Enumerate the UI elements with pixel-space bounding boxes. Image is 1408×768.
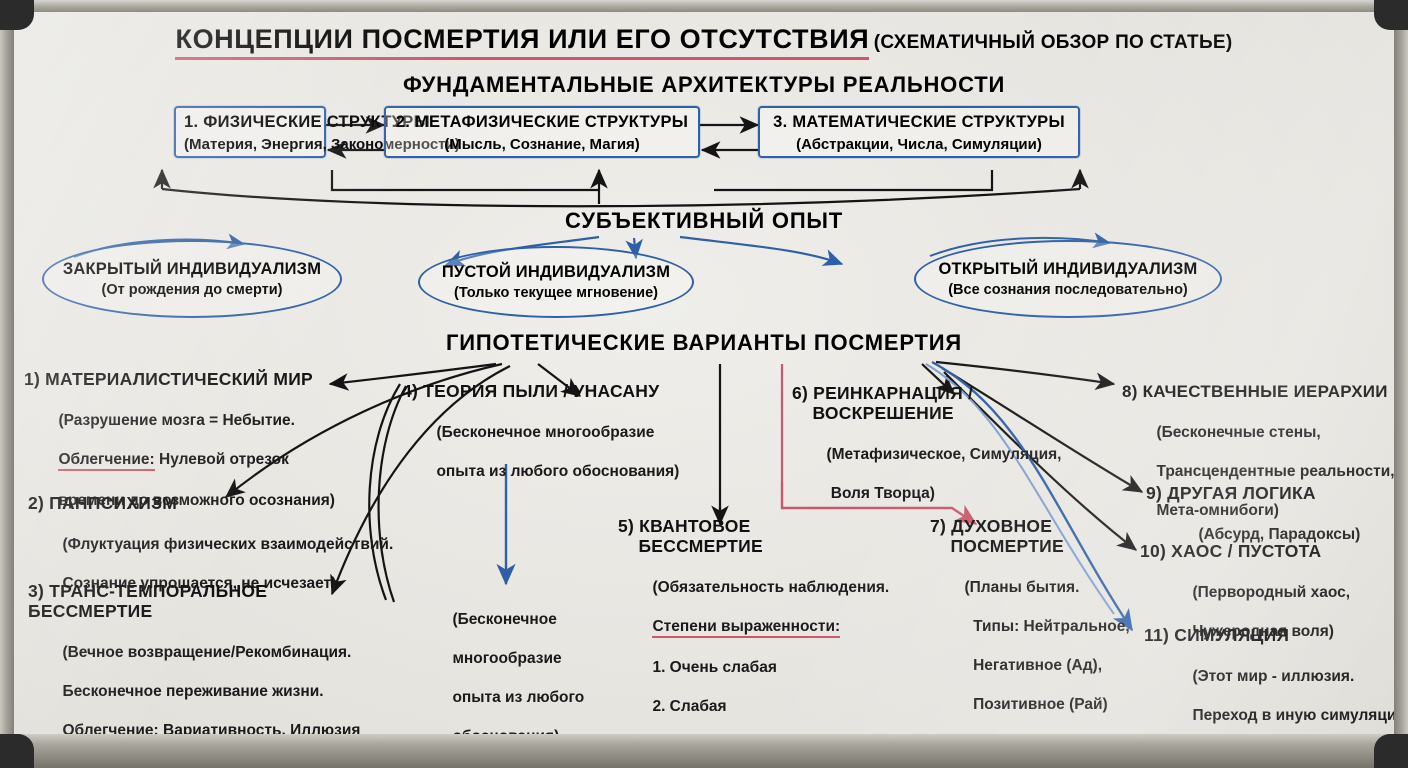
arch-box-physical-detail: (Материя, Энергия, Закономерности) — [184, 136, 316, 153]
variant-5-degrees-label: Степени выраженности: — [652, 619, 840, 638]
variant-6-body: (Метафизическое, Симуляция, Воля Творца) — [792, 425, 1092, 523]
variant-7-body: (Планы бытия. Типы: Нейтральное, Негатив… — [930, 558, 1160, 734]
variant-3-title: 3) ТРАНС-ТЕМПОРАЛЬНОЕ БЕССМЕРТИЕ — [28, 582, 388, 621]
variant-7-spiritual-afterlife[interactable]: 7) ДУХОВНОЕ ПОСМЕРТИЕ (Планы бытия. Типы… — [930, 517, 1160, 734]
arch-box-metaphysical-heading: 2. МЕТАФИЗИЧЕСКИЕ СТРУКТУРЫ — [394, 113, 690, 132]
whiteboard: КОНЦЕПЦИИ ПОСМЕРТИЯ ИЛИ ЕГО ОТСУТСТВИЯ (… — [0, 0, 1408, 768]
variant-11-simulation[interactable]: 11) СИМУЛЯЦИЯ (Этот мир - иллюзия. Перех… — [1144, 626, 1394, 734]
title-subtitle: (СХЕМАТИЧНЫЙ ОБЗОР ПО СТАТЬЕ) — [874, 32, 1233, 53]
variant-3-line-0: (Вечное возвращение/Рекомбинация. — [62, 644, 351, 661]
variant-8-line-1: Трансцендентные реальности, — [1156, 463, 1394, 480]
variant-11-title: 11) СИМУЛЯЦИЯ — [1144, 626, 1394, 646]
corner-bracket-top-left — [0, 0, 34, 30]
section-heading-experience-text: СУБЪЕКТИВНЫЙ ОПЫТ — [565, 208, 843, 233]
variant-4-dust-theory[interactable]: 4) ТЕОРИЯ ПЫЛИ / УНАСАНУ (Бесконечное мн… — [402, 382, 692, 501]
ellipse-open-individualism[interactable]: ОТКРЫТЫЙ ИНДИВИДУАЛИЗМ (Все сознания пос… — [914, 240, 1222, 318]
arch-box-mathematical-detail: (Абстракции, Числа, Симуляции) — [768, 136, 1070, 153]
variant-1-title: 1) МАТЕРИАЛИСТИЧЕСКИЙ МИР — [24, 370, 344, 390]
variant-4-note-line-2: опыта из любого — [452, 689, 584, 706]
variant-9-title: 9) ДРУГАЯ ЛОГИКА — [1146, 484, 1394, 504]
variant-3-body: (Вечное возвращение/Рекомбинация. Бескон… — [28, 623, 388, 734]
variant-7-line-0: (Планы бытия. — [964, 579, 1079, 596]
variant-10-title: 10) ХАОС / ПУСТОТА — [1140, 542, 1394, 562]
variant-6-reincarnation-resurrection[interactable]: 6) РЕИНКАРНАЦИЯ / ВОСКРЕШЕНИЕ (Метафизич… — [792, 384, 1092, 523]
variant-2-line-0: (Флуктуация физических взаимодействий. — [62, 536, 393, 553]
variant-11-body: (Этот мир - иллюзия. Переход в иную симу… — [1144, 648, 1394, 734]
variant-5-body: (Обязательность наблюдения. Степени выра… — [618, 558, 948, 734]
variant-5-degree-1: 1. Очень слабая — [652, 659, 776, 676]
frame-rail-right — [1394, 0, 1408, 768]
variant-4-note-body: (Бесконечное многообразие опыта из любог… — [418, 590, 618, 734]
variant-3-relief-label: Облегчение: — [62, 723, 158, 734]
ellipse-closed-detail: (От рождения до смерти) — [102, 282, 283, 298]
variant-7-line-3: Позитивное (Рай) — [964, 696, 1107, 713]
variant-1-relief-text: Нулевой отрезок — [155, 451, 289, 468]
ellipse-closed-heading: ЗАКРЫТЫЙ ИНДИВИДУАЛИЗМ — [63, 260, 321, 279]
corner-bracket-bottom-right — [1374, 734, 1408, 768]
title-main: КОНЦЕПЦИИ ПОСМЕРТИЯ ИЛИ ЕГО ОТСУТСТВИЯ — [175, 24, 869, 60]
variant-7-line-2: Негативное (Ад), — [964, 657, 1102, 674]
section-heading-architectures: ФУНДАМЕНТАЛЬНЫЕ АРХИТЕКТУРЫ РЕАЛЬНОСТИ — [14, 72, 1394, 98]
variant-1-line-0: (Разрушение мозга = Небытие. — [58, 412, 295, 429]
variant-4-note-infinite-variety: (Бесконечное многообразие опыта из любог… — [418, 590, 618, 734]
arch-box-metaphysical-detail: (Мысль, Сознание, Магия) — [394, 136, 690, 153]
variant-10-line-0: (Первородный хаос, — [1192, 584, 1350, 601]
section-heading-experience: СУБЪЕКТИВНЫЙ ОПЫТ — [14, 208, 1394, 234]
variant-4-note-line-0: (Бесконечное — [452, 611, 556, 628]
ellipse-open-detail: (Все сознания последовательно) — [948, 282, 1188, 298]
variant-4-line-0: (Бесконечное многообразие — [436, 424, 654, 441]
variant-5-title: 5) КВАНТОВОЕ БЕССМЕРТИЕ — [618, 517, 948, 556]
arch-box-mathematical-heading: 3. МАТЕМАТИЧЕСКИЕ СТРУКТУРЫ — [768, 113, 1070, 132]
arch-box-physical[interactable]: 1. ФИЗИЧЕСКИЕ СТРУКТУРЫ (Материя, Энерги… — [174, 106, 326, 158]
variant-2-title: 2) ПАНПСИХИЗМ — [28, 494, 358, 514]
corner-bracket-top-right — [1374, 0, 1408, 30]
ellipse-empty-individualism[interactable]: ПУСТОЙ ИНДИВИДУАЛИЗМ (Только текущее мгн… — [418, 246, 694, 318]
variant-5-line-0: (Обязательность наблюдения. — [652, 579, 889, 596]
section-heading-architectures-text: ФУНДАМЕНТАЛЬНЫЕ АРХИТЕКТУРЫ РЕАЛЬНОСТИ — [403, 72, 1005, 97]
variant-4-line-1: опыта из любого обоснования) — [436, 463, 679, 480]
variant-11-line-0: (Этот мир - иллюзия. — [1192, 668, 1354, 685]
arch-box-metaphysical[interactable]: 2. МЕТАФИЗИЧЕСКИЕ СТРУКТУРЫ (Мысль, Созн… — [384, 106, 700, 158]
variant-7-line-1: Типы: Нейтральное, — [964, 618, 1129, 635]
ellipse-closed-individualism[interactable]: ЗАКРЫТЫЙ ИНДИВИДУАЛИЗМ (От рождения до с… — [42, 240, 342, 318]
ellipse-open-heading: ОТКРЫТЫЙ ИНДИВИДУАЛИЗМ — [939, 260, 1198, 279]
variant-5-degree-2: 2. Слабая — [652, 698, 726, 715]
board-surface: КОНЦЕПЦИИ ПОСМЕРТИЯ ИЛИ ЕГО ОТСУТСТВИЯ (… — [14, 12, 1394, 734]
variant-4-title: 4) ТЕОРИЯ ПЫЛИ / УНАСАНУ — [402, 382, 692, 402]
arch-box-mathematical[interactable]: 3. МАТЕМАТИЧЕСКИЕ СТРУКТУРЫ (Абстракции,… — [758, 106, 1080, 158]
variant-4-body: (Бесконечное многообразие опыта из любог… — [402, 404, 692, 502]
corner-bracket-bottom-left — [0, 734, 34, 768]
ellipse-empty-detail: (Только текущее мгновение) — [454, 285, 658, 301]
variant-3-trans-temporal-immortality[interactable]: 3) ТРАНС-ТЕМПОРАЛЬНОЕ БЕССМЕРТИЕ (Вечное… — [28, 582, 388, 734]
page-title: КОНЦЕПЦИИ ПОСМЕРТИЯ ИЛИ ЕГО ОТСУТСТВИЯ (… — [14, 24, 1394, 55]
variant-6-title: 6) РЕИНКАРНАЦИЯ / ВОСКРЕШЕНИЕ — [792, 384, 1092, 423]
variant-8-title: 8) КАЧЕСТВЕННЫЕ ИЕРАРХИИ — [1122, 382, 1394, 401]
ellipse-empty-heading: ПУСТОЙ ИНДИВИДУАЛИЗМ — [442, 263, 670, 282]
variant-4-note-line-1: многообразие — [452, 650, 561, 667]
section-heading-variants-text: ГИПОТЕТИЧЕСКИЕ ВАРИАНТЫ ПОСМЕРТИЯ — [446, 330, 962, 355]
section-heading-variants: ГИПОТЕТИЧЕСКИЕ ВАРИАНТЫ ПОСМЕРТИЯ — [14, 330, 1394, 356]
variant-6-line-1: Воля Творца) — [826, 485, 934, 502]
variant-11-line-1: Переход в иную симуляцию — [1192, 707, 1394, 724]
frame-rail-bottom-tray — [0, 734, 1408, 768]
variant-3-line-1: Бесконечное переживание жизни. — [62, 683, 323, 700]
variant-3-relief-text: Вариативность, Иллюзия — [159, 722, 361, 734]
variant-4-note-line-3: обоснования) — [452, 728, 559, 734]
variant-6-line-0: (Метафизическое, Симуляция, — [826, 446, 1061, 463]
frame-rail-top — [0, 0, 1408, 12]
variant-5-quantum-immortality[interactable]: 5) КВАНТОВОЕ БЕССМЕРТИЕ (Обязательность … — [618, 517, 948, 734]
frame-rail-left — [0, 0, 14, 768]
variant-8-line-0: (Бесконечные стены, — [1156, 424, 1320, 441]
variant-1-relief-label: Облегчение: — [58, 452, 154, 471]
arch-box-physical-heading: 1. ФИЗИЧЕСКИЕ СТРУКТУРЫ — [184, 113, 316, 132]
